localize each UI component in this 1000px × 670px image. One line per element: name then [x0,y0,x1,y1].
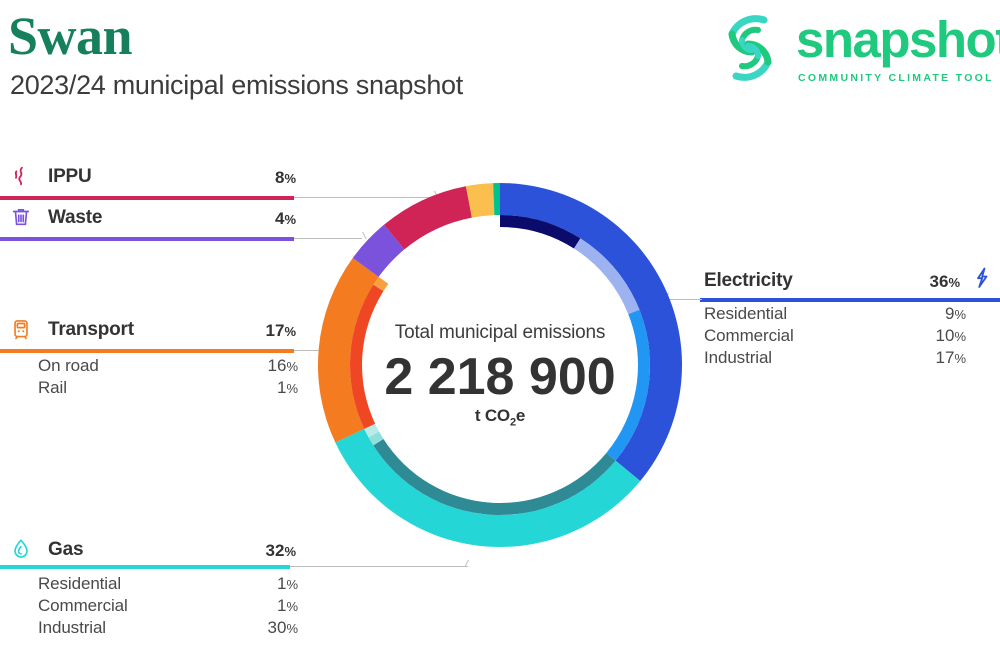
sub-percent-gas-2: 30% [268,618,298,638]
category-rule-transport [0,349,294,353]
category-rule-waste [0,237,294,241]
list-item: Industrial 17% [704,348,966,370]
list-item: Commercial 10% [704,326,966,348]
category-percent-ippu: 8% [275,168,296,188]
category-ippu: IPPU 8% [10,165,300,191]
sub-label-electricity-0: Residential [704,304,787,324]
sub-label-gas-0: Residential [38,574,121,594]
category-percent-gas: 32% [266,541,296,561]
category-percent-waste: 4% [275,209,296,229]
sub-label-transport-1: Rail [38,378,67,398]
sub-percent-electricity-2: 17% [936,348,966,368]
gas-flame-icon [10,538,36,562]
list-item: Rail 1% [38,378,298,400]
donut-centre: Total municipal emissions 2 218 900 t CO… [355,322,645,428]
sub-label-electricity-2: Industrial [704,348,772,368]
list-item: On road 16% [38,356,298,378]
sub-percent-transport-1: 1% [277,378,298,398]
tram-icon [10,318,36,342]
connector-transport [294,350,320,351]
subcategories-electricity: Residential 9% Commercial 10% Industrial… [704,304,966,370]
lightning-bolt-icon [970,265,996,289]
category-label-transport: Transport [48,319,134,341]
logo-wordmark: snapshot [796,12,1000,68]
category-waste: Waste 4% [10,206,300,232]
category-label-ippu: IPPU [48,166,92,188]
sub-percent-electricity-1: 10% [936,326,966,346]
logo-tagline: COMMUNITY CLIMATE TOOL [798,72,994,84]
category-gas: Gas 32% [10,538,300,564]
donut-segment [384,186,472,249]
sub-label-transport-0: On road [38,356,99,376]
list-item: Commercial 1% [38,596,298,618]
category-label-waste: Waste [48,207,102,229]
snapshot-logo: snapshot COMMUNITY CLIMATE TOOL [698,4,998,96]
donut-segment [493,183,500,215]
total-emissions-unit: t CO2e [355,406,645,428]
category-electricity: Electricity 36% [704,269,996,295]
list-item: Residential 9% [704,304,966,326]
page-title: Swan [8,6,132,66]
sub-label-electricity-1: Commercial [704,326,794,346]
subcategories-transport: On road 16% Rail 1% [38,356,298,400]
list-item: Industrial 30% [38,618,298,640]
category-percent-electricity: 36% [930,272,960,292]
sub-label-gas-2: Industrial [38,618,106,638]
category-rule-ippu [0,196,294,200]
category-label-electricity: Electricity [704,270,793,292]
emissions-snapshot-page: Swan 2023/24 municipal emissions snapsho… [0,0,1000,670]
sub-percent-gas-1: 1% [277,596,298,616]
connector-gas [290,566,468,567]
category-rule-electricity [700,298,1000,302]
category-percent-transport: 17% [266,321,296,341]
subcategories-gas: Residential 1% Commercial 1% Industrial … [38,574,298,640]
category-label-gas: Gas [48,539,83,561]
smoke-icon [10,165,36,189]
total-emissions-label: Total municipal emissions [355,322,645,344]
sub-percent-transport-0: 16% [268,356,298,376]
total-emissions-value: 2 218 900 [355,346,645,408]
sub-percent-electricity-0: 9% [945,304,966,324]
sub-percent-gas-0: 1% [277,574,298,594]
list-item: Residential 1% [38,574,298,596]
trash-bin-icon [10,206,36,230]
category-transport: Transport 17% [10,318,300,344]
page-subtitle: 2023/24 municipal emissions snapshot [10,70,463,101]
snapshot-spiral-logo-icon [712,8,788,88]
sub-label-gas-1: Commercial [38,596,128,616]
category-rule-gas [0,565,290,569]
